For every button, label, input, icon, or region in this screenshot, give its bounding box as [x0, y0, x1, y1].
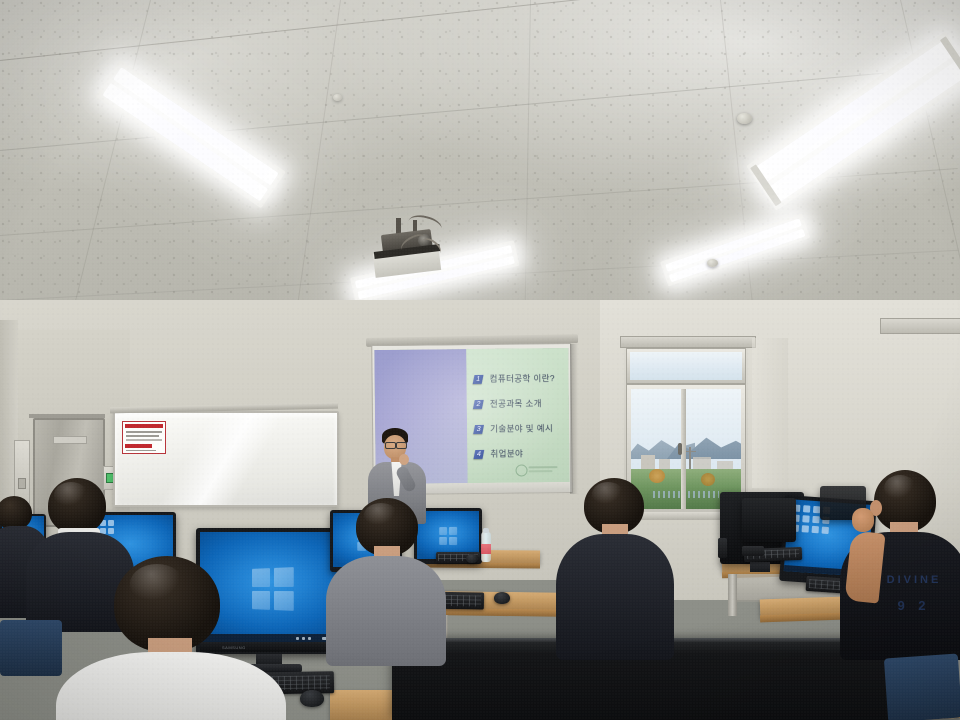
glasses-icon — [396, 442, 407, 449]
window-transom-frame[interactable] — [626, 348, 746, 384]
hair-highlight — [592, 482, 624, 506]
monitor-stand — [750, 562, 770, 572]
desk-leg — [728, 574, 737, 616]
blind-box — [880, 318, 960, 334]
chair[interactable] — [0, 620, 62, 676]
door-frame — [29, 414, 105, 418]
student-center-grey — [330, 498, 440, 663]
screen-shadow — [570, 344, 578, 494]
windows-logo-icon — [439, 527, 457, 545]
hair-highlight — [54, 482, 88, 508]
slide-bullet-item: 1 컴퓨터공학 이란? — [474, 372, 569, 385]
mouse[interactable] — [300, 690, 324, 707]
slide-bullet-list: 1 컴퓨터공학 이란? 2 전공과목 소개 3 기술분야 및 예시 4 취업분야 — [474, 372, 570, 459]
notice-text-line — [126, 431, 162, 433]
slide-bullet-text: 전공과목 소개 — [490, 397, 542, 410]
desktop-icon[interactable] — [812, 526, 819, 533]
slide-bullet-number: 2 — [473, 399, 484, 408]
student-center-dark — [564, 478, 664, 658]
autumn-foliage — [701, 473, 715, 486]
window-handle[interactable] — [678, 443, 682, 455]
student-white-polo — [62, 556, 282, 720]
water-bottle[interactable] — [481, 532, 491, 562]
wall-divider — [752, 338, 788, 488]
hair-highlight — [364, 503, 398, 527]
slide-bullet-text: 컴퓨터공학 이란? — [490, 372, 556, 385]
desktop-icon[interactable] — [822, 527, 829, 534]
hair-highlight — [884, 475, 916, 501]
shirt-graphic-text: DIVINE — [866, 574, 960, 586]
student-head — [0, 496, 32, 530]
slide-bullet-number: 4 — [473, 449, 484, 458]
mouse[interactable] — [494, 592, 510, 604]
slide-bullet-number: 3 — [473, 424, 484, 433]
ceiling-projector — [360, 218, 470, 280]
notice-subtitle-bar — [125, 444, 152, 448]
door-name-plate — [53, 436, 87, 444]
desktop-icon[interactable] — [802, 515, 809, 522]
smoke-detector — [707, 259, 718, 267]
notice-text-line — [126, 435, 159, 437]
student-body — [56, 652, 286, 720]
chair[interactable] — [884, 653, 960, 720]
wall-panel-latch — [18, 478, 26, 489]
classroom-photo: 1 컴퓨터공학 이란? 2 전공과목 소개 3 기술분야 및 예시 4 취업분야 — [0, 0, 960, 720]
slide-bullet-item: 2 전공과목 소개 — [474, 397, 569, 410]
presenter-hand — [399, 454, 409, 465]
notice-text-line — [126, 450, 156, 451]
taskbar-icon[interactable] — [296, 637, 299, 640]
desktop-speaker — [742, 546, 764, 556]
hair-highlight — [130, 564, 184, 604]
slide-bullet-text: 취업분야 — [490, 447, 523, 459]
slide-bullet-number: 1 — [473, 374, 484, 383]
smoke-detector — [737, 113, 752, 124]
student-body — [326, 556, 446, 666]
glasses-icon — [385, 442, 396, 449]
student-hand — [852, 508, 874, 532]
notice-title-bar — [125, 424, 163, 428]
taskbar-icon[interactable] — [302, 637, 305, 640]
projector-mount-arm — [396, 218, 401, 234]
student-right-black-tee: DIVINE 9 2 — [844, 470, 960, 660]
mouse[interactable] — [466, 554, 478, 563]
student-body — [556, 534, 674, 660]
desktop-icon[interactable] — [812, 516, 819, 523]
slide-bullet-item: 4 취업분야 — [474, 447, 569, 460]
desktop-icon[interactable] — [803, 505, 810, 512]
emergency-notice-poster — [122, 421, 166, 454]
slide-bullet-item: 3 기술분야 및 예시 — [474, 422, 569, 435]
notice-text-line — [126, 439, 162, 441]
whiteboard — [113, 411, 339, 507]
window-blind-box — [620, 336, 756, 348]
desktop-speaker — [718, 538, 727, 558]
smoke-detector — [333, 94, 342, 101]
desktop-icon[interactable] — [802, 525, 809, 532]
slide-bullet-text: 기술분야 및 예시 — [490, 422, 553, 435]
student-arm — [844, 530, 885, 603]
university-logo-icon — [515, 464, 559, 475]
taskbar-icon[interactable] — [308, 637, 311, 640]
shirt-graphic-number: 9 2 — [866, 598, 960, 613]
monitor — [742, 498, 796, 542]
window-transom-glass — [630, 352, 742, 380]
